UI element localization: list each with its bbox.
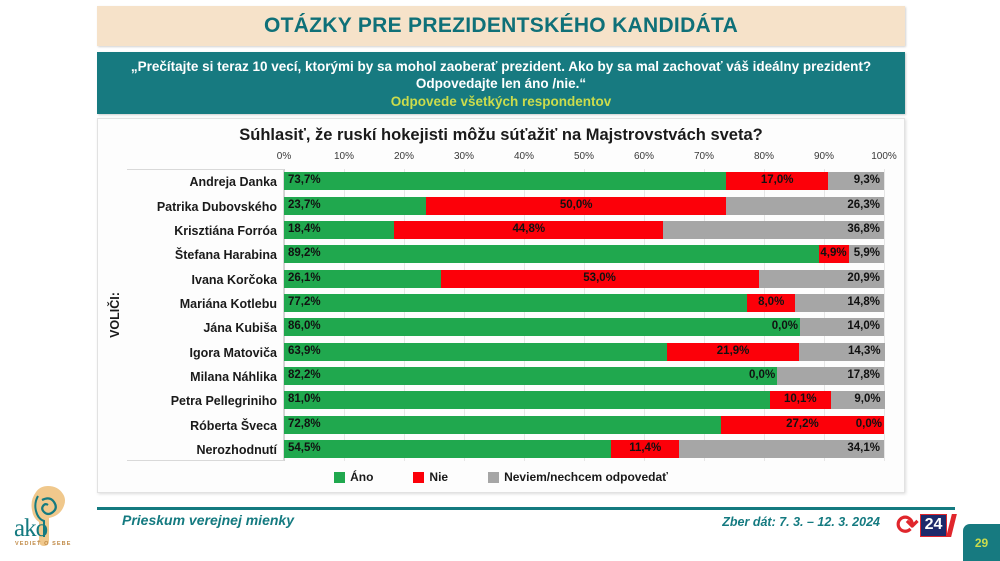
question-band: „Prečítajte si teraz 10 vecí, ktorými by… (97, 52, 905, 114)
chart-bar-row: 54,5%11,4%34,1% (284, 440, 884, 458)
chart-value-label: 44,8% (512, 224, 545, 236)
chart-category-label: Róberta Šveca (190, 419, 277, 432)
chart-value-label: 26,3% (847, 200, 880, 212)
chart-value-label: 63,9% (288, 346, 321, 358)
ta3-24-brand-logo: ⟳ 24 (896, 512, 958, 538)
x-axis-tick: 10% (334, 151, 354, 162)
page-number-tab: 29 (963, 524, 1000, 561)
chart-value-label: 54,5% (288, 443, 321, 455)
chart-category-label: Milana Náhlika (190, 371, 277, 384)
chart-value-label: 82,2% (288, 370, 321, 382)
chart-panel: Súhlasiť, že ruskí hokejisti môžu súťaži… (97, 118, 905, 493)
chart-category-label: Petra Pellegriniho (171, 395, 277, 408)
chart-value-label: 18,4% (288, 224, 321, 236)
chart-value-label: 36,8% (847, 224, 880, 236)
chart-bar-segment: 11,4% (611, 440, 679, 458)
chart-value-label: 4,9% (820, 248, 846, 260)
chart-value-label: 72,8% (288, 419, 321, 431)
chart-bar-segment: 82,2% (284, 367, 777, 385)
legend-label: Nie (429, 470, 448, 484)
chart-bar-segment: 23,7% (284, 197, 426, 215)
chart-category-label: Štefana Harabina (175, 249, 277, 262)
chart-value-label: 0,0% (772, 321, 798, 333)
x-axis-tick: 20% (394, 151, 414, 162)
chart-bar-segment: 9,0% (831, 391, 885, 409)
chart-value-label: 14,3% (848, 346, 881, 358)
legend-item[interactable]: Áno (334, 470, 373, 484)
chart-bar-segment: 72,8% (284, 416, 721, 434)
chart-bar-segment: 34,1% (679, 440, 884, 458)
x-axis-tick: 100% (871, 151, 897, 162)
chart-x-axis: 0%10%20%30%40%50%60%70%80%90%100% (284, 151, 884, 167)
chart-value-label: 14,0% (847, 321, 880, 333)
brand-number-badge: 24 (920, 514, 948, 537)
chart-bar-segment: 53,0% (441, 270, 759, 288)
chart-bar-row: 63,9%21,9%14,3% (284, 343, 884, 361)
x-axis-tick: 60% (634, 151, 654, 162)
chart-value-label: 86,0% (288, 321, 321, 333)
chart-bar-segment: 63,9% (284, 343, 667, 361)
y-axis-title-label: VOLIČI: (108, 292, 122, 338)
chart-bar-segment: 20,9% (759, 270, 884, 288)
page-title: OTÁZKY PRE PREZIDENTSKÉHO KANDIDÁTA (264, 14, 738, 38)
legend-label: Áno (350, 470, 373, 484)
legend-item[interactable]: Nie (413, 470, 448, 484)
chart-bar-segment: 17,8% (777, 367, 884, 385)
chart-bar-segment: 18,4% (284, 221, 394, 239)
chart-bar-segment: 21,9% (667, 343, 798, 361)
question-subtitle: Odpovede všetkých respondentov (111, 93, 891, 111)
chart-bar-row: 26,1%53,0%20,9% (284, 270, 884, 288)
chart-bar-segment: 14,3% (799, 343, 885, 361)
chart-bar-segment: 14,0% (800, 318, 884, 336)
chart-value-label: 77,2% (288, 297, 321, 309)
chart-value-label: 11,4% (629, 443, 661, 455)
chart-category-label: Patrika Dubovského (157, 200, 277, 213)
chart-bar-row: 72,8%27,2%0,0% (284, 416, 884, 434)
chart-value-label: 5,9% (854, 248, 880, 260)
chart-value-label: 23,7% (288, 200, 321, 212)
chart-bar-row: 86,0%0,0%14,0% (284, 318, 884, 336)
chart-bar-segment: 8,0% (747, 294, 795, 312)
chart-bar-segment: 5,9% (849, 245, 884, 263)
chart-y-axis-title: VOLIČI: (104, 169, 126, 461)
x-axis-tick: 90% (814, 151, 834, 162)
chart-category-label: Nerozhodnutí (196, 444, 277, 457)
chart-value-label: 73,7% (288, 175, 321, 187)
x-axis-tick: 40% (514, 151, 534, 162)
chart-value-label: 26,1% (288, 273, 321, 285)
chart-bar-row: 81,0%10,1%9,0% (284, 391, 884, 409)
chart-bar-segment: 73,7% (284, 172, 726, 190)
chart-bar-segment: 81,0% (284, 391, 770, 409)
chart-value-label: 14,8% (847, 297, 880, 309)
chart-value-label: 8,0% (758, 297, 784, 309)
slide-root: OTÁZKY PRE PREZIDENTSKÉHO KANDIDÁTA „Pre… (0, 0, 1000, 561)
chart-value-label: 27,2% (786, 419, 819, 431)
chart-bar-segment: 9,3% (828, 172, 884, 190)
chart-bar-segment: 86,0% (284, 318, 800, 336)
x-axis-tick: 50% (574, 151, 594, 162)
chart-category-label: Andreja Danka (189, 176, 277, 189)
chart-title: Súhlasiť, že ruskí hokejisti môžu súťaži… (98, 126, 904, 145)
chart-value-label: 81,0% (288, 394, 321, 406)
chart-legend: ÁnoNieNeviem/nechcem odpovedať (98, 470, 904, 484)
brand-slash-icon (947, 514, 958, 537)
chart-value-label: 9,0% (854, 394, 880, 406)
legend-swatch-icon (413, 472, 424, 483)
chart-bar-row: 23,7%50,0%26,3% (284, 197, 884, 215)
page-number-label: 29 (975, 536, 988, 550)
chart-value-label: 20,9% (847, 273, 880, 285)
footer-date: Zber dát: 7. 3. – 12. 3. 2024 (700, 515, 880, 529)
x-axis-tick: 80% (754, 151, 774, 162)
chart-bar-segment: 36,8% (663, 221, 884, 239)
chart-value-label: 10,1% (784, 394, 817, 406)
ako-wordmark: ako (14, 516, 47, 541)
x-axis-tick: 70% (694, 151, 714, 162)
footer-label: Prieskum verejnej mienky (122, 512, 294, 528)
chart-value-label: 0,0% (749, 370, 775, 382)
x-axis-tick: 30% (454, 151, 474, 162)
legend-item[interactable]: Neviem/nechcem odpovedať (488, 470, 668, 484)
chart-bar-segment: 89,2% (284, 245, 819, 263)
chart-value-label: 9,3% (854, 175, 880, 187)
chart-bar-segment: 77,2% (284, 294, 747, 312)
question-text: „Prečítajte si teraz 10 vecí, ktorými by… (111, 58, 891, 92)
chart-category-labels: Andreja DankaPatrika DubovskéhoKrisztián… (127, 169, 284, 461)
legend-label: Neviem/nechcem odpovedať (504, 470, 668, 484)
chart-plot-area: 73,7%17,0%9,3%23,7%50,0%26,3%18,4%44,8%3… (284, 169, 884, 461)
chart-bar-row: 89,2%4,9%5,9% (284, 245, 884, 263)
legend-swatch-icon (488, 472, 499, 483)
slide-title-band: OTÁZKY PRE PREZIDENTSKÉHO KANDIDÁTA (97, 6, 905, 46)
chart-value-label: 17,8% (847, 370, 880, 382)
grid-line (884, 169, 885, 461)
chart-bar-segment: 50,0% (426, 197, 726, 215)
x-axis-tick: 0% (277, 151, 291, 162)
chart-bar-segment: 4,9% (819, 245, 848, 263)
chart-value-label: 50,0% (560, 200, 593, 212)
chart-bar-segment: 54,5% (284, 440, 611, 458)
chart-bar-segment: 26,3% (726, 197, 884, 215)
chart-bar-row: 73,7%17,0%9,3% (284, 172, 884, 190)
chart-category-label: Krisztiána Forróa (174, 225, 277, 238)
chart-value-label: 0,0% (856, 419, 882, 431)
chart-category-label: Ivana Korčoka (192, 273, 277, 286)
chart-category-label: Mariána Kotlebu (180, 298, 277, 311)
chart-value-label: 21,9% (717, 346, 750, 358)
chart-bar-segment: 14,8% (795, 294, 884, 312)
chart-bar-row: 77,2%8,0%14,8% (284, 294, 884, 312)
legend-swatch-icon (334, 472, 345, 483)
chart-value-label: 34,1% (847, 443, 880, 455)
chart-bar-segment: 17,0% (726, 172, 828, 190)
chart-value-label: 53,0% (583, 273, 616, 285)
chart-bar-segment: 10,1% (770, 391, 831, 409)
chart-category-label: Igora Matoviča (189, 346, 277, 359)
chart-value-label: 89,2% (288, 248, 321, 260)
chart-value-label: 17,0% (761, 175, 794, 187)
chart-bar-row: 18,4%44,8%36,8% (284, 221, 884, 239)
chart-category-label: Jána Kubiša (203, 322, 277, 335)
footer-divider (97, 507, 955, 510)
spiral-icon: ⟳ (896, 512, 919, 539)
chart-bar-segment: 26,1% (284, 270, 441, 288)
chart-bar-segment: 44,8% (394, 221, 663, 239)
ako-tagline: VEDIEŤ O SEBE (15, 541, 71, 547)
chart-bar-row: 82,2%0,0%17,8% (284, 367, 884, 385)
